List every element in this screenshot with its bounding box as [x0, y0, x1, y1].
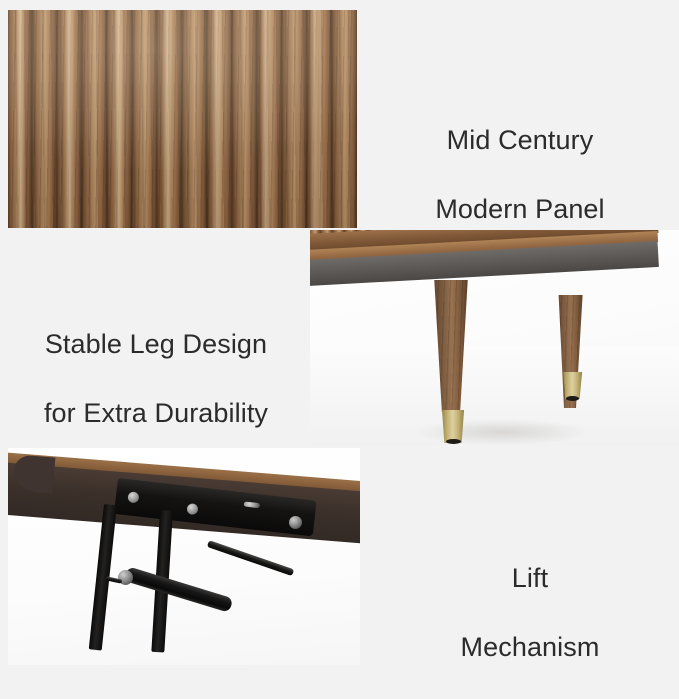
- caption-line: Mid Century: [370, 123, 670, 158]
- caption-lift-mechanism: Lift Mechanism: [392, 526, 668, 699]
- gas-strut-cylinder: [124, 566, 234, 613]
- lift-mechanism-photo: [8, 448, 360, 665]
- tapered-legs-photo: [310, 230, 679, 445]
- caption-line: Stable Leg Design: [8, 327, 304, 362]
- fluted-wood-panel-photo: [8, 10, 357, 228]
- product-feature-infographic: Mid Century Modern Panel Stable Leg Desi…: [0, 0, 679, 679]
- panel-lighting: [8, 10, 357, 228]
- bracket-rivet: [127, 491, 139, 503]
- caption-line: Modern Panel: [370, 192, 670, 227]
- table-leg-front-foot: [446, 439, 461, 444]
- gas-strut-pivot-upper: [289, 516, 302, 529]
- gas-strut-rod: [207, 540, 294, 576]
- floor-shadow: [413, 419, 590, 445]
- caption-stable-leg-design: Stable Leg Design for Extra Durability: [8, 292, 304, 465]
- bracket-slot: [244, 501, 260, 508]
- caption-line: Lift: [392, 561, 668, 596]
- bracket-rivet: [186, 503, 198, 515]
- caption-line: for Extra Durability: [8, 396, 304, 431]
- caption-line: Mechanism: [392, 630, 668, 665]
- table-leg-back-brass-cap: [562, 372, 583, 399]
- table-leg-back-foot: [566, 396, 579, 401]
